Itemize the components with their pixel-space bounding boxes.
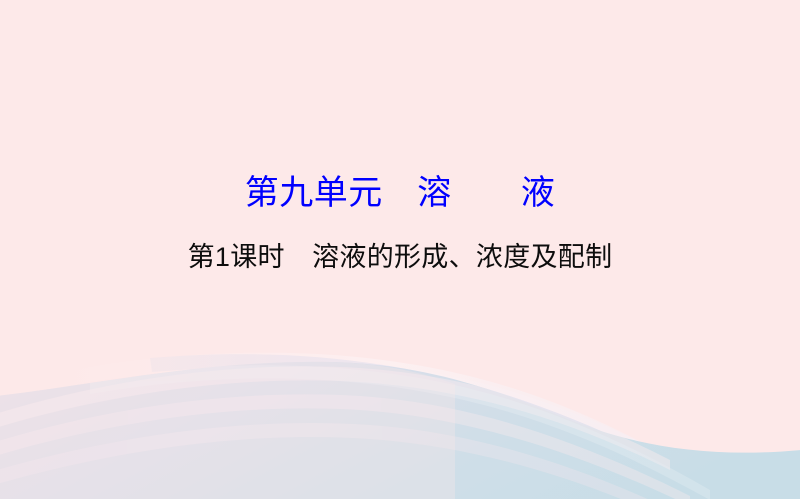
wave-body [0, 362, 800, 499]
page-title: 第九单元 溶 液 [0, 172, 800, 214]
wave-band-group [0, 353, 700, 499]
wave-left-haze [0, 362, 455, 499]
wave-rib-group [0, 365, 720, 499]
page-subtitle: 第1课时 溶液的形成、浓度及配制 [0, 240, 800, 274]
presentation-slide: 第九单元 溶 液 第1课时 溶液的形成、浓度及配制 [0, 0, 800, 499]
